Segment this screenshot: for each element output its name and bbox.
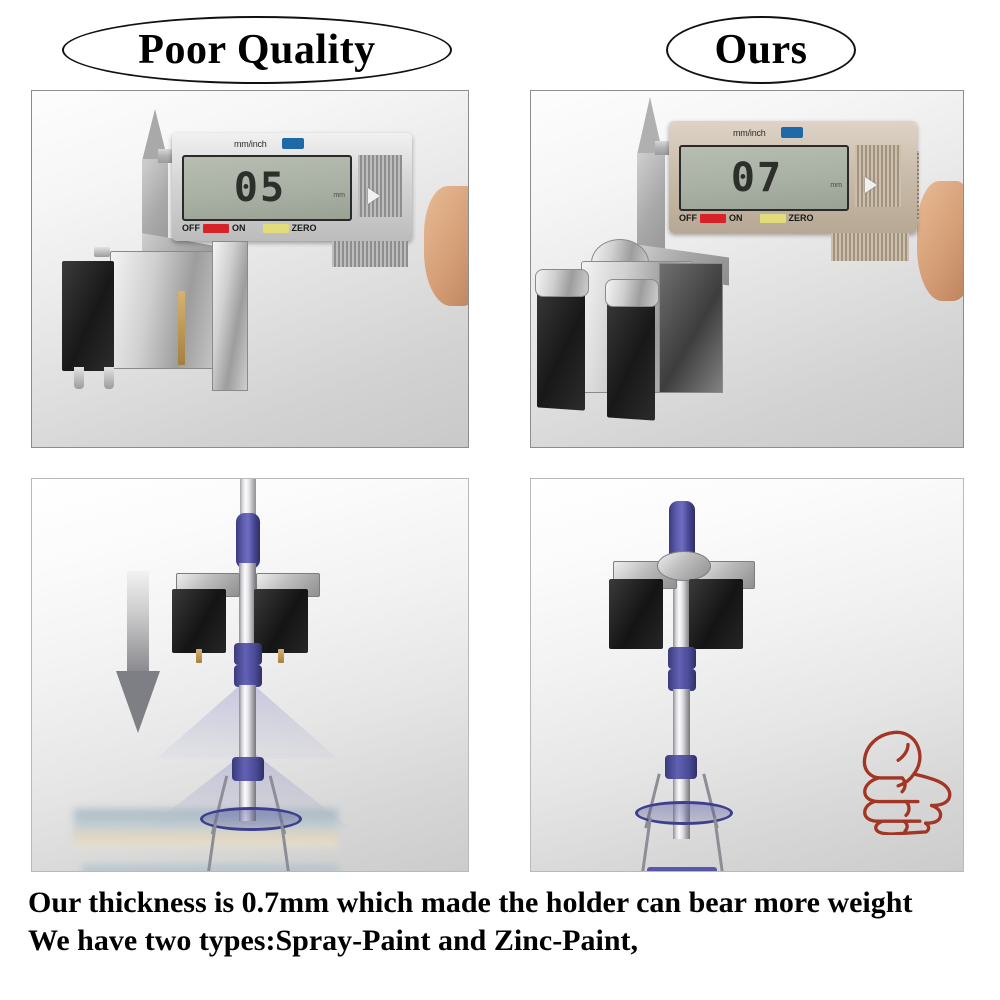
caption-block: Our thickness is 0.7mm which made the ho… [28, 884, 968, 960]
caliper-lower-ribs [831, 233, 909, 261]
holder-hinge-barrel [657, 551, 711, 581]
caliper-mode-label: mm/inch [234, 139, 267, 149]
holder-rubber-right [254, 589, 308, 653]
mop-pole-lower [239, 685, 256, 821]
caliper-unit-label: mm [333, 192, 345, 199]
caliper-lcd-screen: 07 mm [679, 145, 849, 211]
holder-pin-left [196, 649, 202, 663]
caliper-button-row: OFF ON ZERO [679, 213, 814, 223]
panel-ours-illustration [530, 478, 964, 872]
caliper-on-label: ON [729, 213, 743, 223]
arrow-head [116, 671, 160, 733]
caliper-display-housing: mm/inch 07 mm OFF ON ZERO [669, 121, 917, 233]
caliper-mode-switch[interactable] [282, 138, 304, 149]
caliper-mode-switch[interactable] [781, 127, 803, 138]
caliper-display-housing: mm/inch 05 mm OFF ON ZERO [172, 133, 412, 241]
mop-cone-collar [232, 757, 264, 781]
mop-cone-collar [665, 755, 697, 779]
caliper-thumb-roller-icon [368, 188, 380, 204]
illustration-stage [32, 479, 468, 871]
arrow-shaft [127, 571, 149, 671]
caliper-power-switch[interactable] [700, 214, 726, 223]
holder-rubber-post-left [537, 279, 585, 410]
caliper-zero-label: ZERO [789, 213, 814, 223]
panel-poor-quality-photo: mm/inch 05 mm OFF ON ZERO [31, 90, 469, 448]
mop-collar-lower [668, 669, 696, 691]
caliper-on-label: ON [232, 223, 246, 233]
holder-rubber-left [172, 589, 226, 653]
caliper-off-label: OFF [679, 213, 697, 223]
caliper-lcd-screen: 05 mm [182, 155, 352, 221]
caliper-reading: 07 [681, 155, 833, 201]
mop-head-bridge [214, 871, 284, 872]
hand [917, 181, 964, 301]
caliper-grip-ribs [855, 145, 901, 207]
holder-top-screw [94, 247, 110, 257]
wall-holder [607, 557, 759, 649]
holder-rubber-right [689, 579, 743, 649]
holder-rubber-left [609, 579, 663, 649]
holder-rubber-post-right [607, 289, 655, 420]
panel-ours-photo: mm/inch 07 mm OFF ON ZERO [530, 90, 964, 448]
caliper-grip-ribs [358, 155, 402, 217]
caliper-reading: 05 [184, 165, 336, 211]
holder-pin-right [278, 649, 284, 663]
caliper-zero-label: ZERO [292, 223, 317, 233]
caliper-off-label: OFF [182, 223, 200, 233]
holder-brass-pin [178, 291, 185, 365]
mop-collar-upper [234, 643, 262, 665]
heading-label-poor-quality: Poor Quality [138, 26, 375, 74]
caliper-lower-ribs [332, 241, 408, 267]
holder-bracket-flange [212, 241, 248, 391]
photo-stage: mm/inch 07 mm OFF ON ZERO [531, 91, 963, 447]
holder-rubber-block [62, 261, 114, 371]
caption-line-1: Our thickness is 0.7mm which made the ho… [28, 884, 968, 922]
holder-cap-right [605, 279, 659, 307]
holder-cap-left [535, 269, 589, 297]
panel-poor-quality-illustration [31, 478, 469, 872]
motion-blur-band-2 [74, 831, 338, 847]
caliper-unit-label: mm [830, 182, 842, 189]
mop-head-bridge [647, 867, 717, 872]
caliper-thumb-roller-icon [865, 177, 877, 193]
caliper-mode-label: mm/inch [733, 128, 766, 138]
mop-collar-upper [668, 647, 696, 669]
caption-line-2: We have two types:Spray-Paint and Zinc-P… [28, 922, 968, 960]
mop-handle-grip [236, 513, 260, 569]
thumbs-up-icon [849, 717, 964, 835]
cone-arm-right-lower [713, 817, 724, 872]
photo-stage: mm/inch 05 mm OFF ON ZERO [32, 91, 468, 447]
illustration-stage [531, 479, 963, 871]
hand [424, 186, 469, 306]
heading-badge-ours: Ours [666, 16, 856, 84]
heading-label-ours: Ours [714, 26, 807, 74]
holder-bracket-steel [110, 251, 224, 369]
caliper-zero-switch[interactable] [760, 214, 786, 223]
caliper-button-row: OFF ON ZERO [182, 223, 317, 233]
holder-screw-right [104, 367, 114, 389]
heading-badge-poor-quality: Poor Quality [62, 16, 452, 84]
caliper-power-switch[interactable] [203, 224, 229, 233]
caliper-zero-switch[interactable] [263, 224, 289, 233]
holder-screw-left [74, 367, 84, 389]
holder-back-plate [659, 263, 723, 393]
